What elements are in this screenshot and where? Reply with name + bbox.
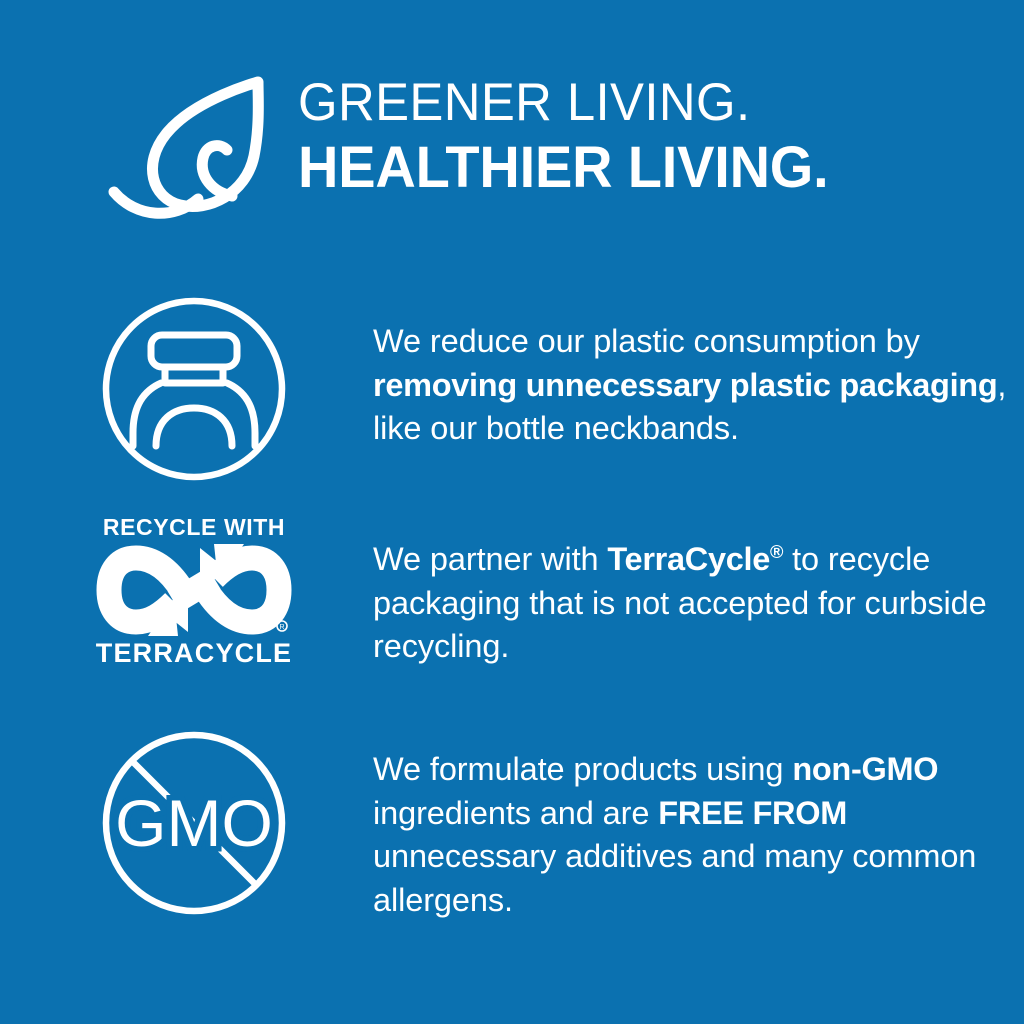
bottle-neckband-icon [99, 294, 289, 484]
gmo-label: GMO [115, 786, 273, 860]
leaf-icon [98, 68, 288, 230]
terracycle-bottom-label: TERRACYCLE [96, 640, 293, 667]
header-text-block: GREENER LIVING. HEALTHIER LIVING. [298, 76, 848, 197]
headline-secondary: HEALTHIER LIVING. [298, 139, 829, 197]
greener-living-infographic: GREENER LIVING. HEALTHIER LIVING. [0, 0, 1024, 1024]
benefit-text-plastic-reduction: We reduce our plastic consumption by rem… [292, 288, 1024, 451]
benefit-row-non-gmo: GMO We formulate products using non-GMO … [0, 720, 1024, 950]
benefit-text-non-gmo: We formulate products using non-GMO ingr… [292, 720, 1024, 923]
terracycle-logo: RECYCLE WITH [96, 516, 292, 667]
headline-primary: GREENER LIVING. [298, 76, 826, 129]
infinity-recycle-arrows-icon: R [96, 542, 292, 638]
icon-cell-bottle [96, 288, 292, 484]
header-banner: GREENER LIVING. HEALTHIER LIVING. [0, 62, 1024, 232]
no-gmo-icon: GMO [99, 728, 289, 918]
icon-cell-terracycle: RECYCLE WITH [96, 508, 292, 706]
svg-text:R: R [279, 624, 284, 631]
benefit-text-terracycle: We partner with TerraCycle® to recycle p… [292, 508, 1024, 669]
icon-cell-gmo: GMO [96, 720, 292, 918]
terracycle-top-label: RECYCLE WITH [103, 516, 285, 539]
benefit-rows: We reduce our plastic consumption by rem… [0, 288, 1024, 950]
benefit-row-terracycle: RECYCLE WITH [0, 508, 1024, 720]
benefit-row-plastic-reduction: We reduce our plastic consumption by rem… [0, 288, 1024, 508]
